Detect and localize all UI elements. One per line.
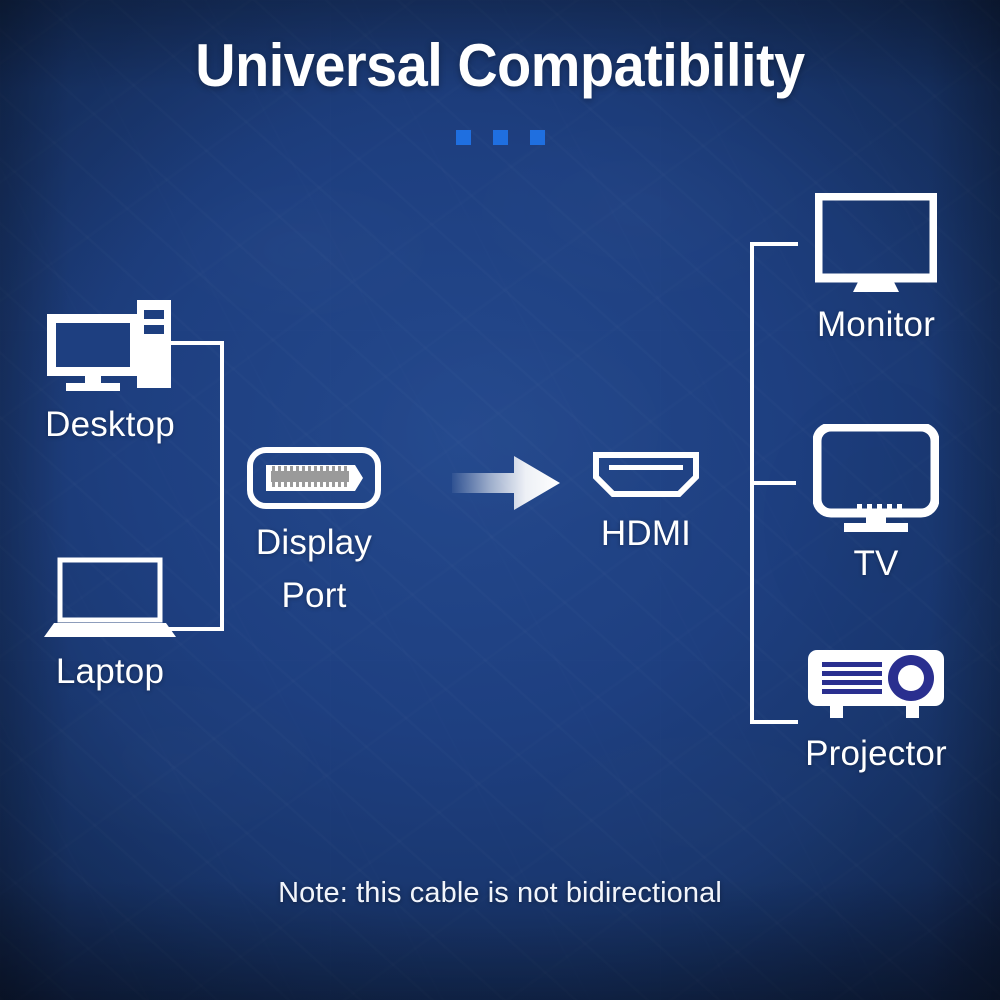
output-port-hdmi: HDMI bbox=[556, 450, 736, 553]
hdmi-connector-icon bbox=[591, 450, 701, 500]
footer-note: Note: this cable is not bidirectional bbox=[0, 877, 1000, 910]
display-label-tv: TV bbox=[776, 544, 976, 583]
projector-icon bbox=[806, 648, 946, 722]
display-label-monitor: Monitor bbox=[776, 305, 976, 344]
page-title: Universal Compatibility bbox=[35, 34, 965, 97]
displayport-connector-icon bbox=[247, 447, 381, 509]
display-item-tv: TV bbox=[776, 424, 976, 583]
input-port-displayport: Display Port bbox=[216, 447, 412, 615]
divider-dot-1 bbox=[456, 130, 471, 145]
output-port-label: HDMI bbox=[556, 514, 736, 553]
display-item-projector: Projector bbox=[776, 648, 976, 773]
input-port-label-line2: Port bbox=[216, 576, 412, 615]
display-item-monitor: Monitor bbox=[776, 193, 976, 344]
source-label-laptop: Laptop bbox=[10, 652, 210, 691]
divider-dot-2 bbox=[493, 130, 508, 145]
monitor-icon bbox=[815, 193, 937, 295]
title-divider-dots bbox=[0, 130, 1000, 145]
arrow-right-icon bbox=[452, 452, 562, 514]
input-port-label-line1: Display bbox=[216, 523, 412, 562]
tv-icon bbox=[813, 424, 939, 534]
divider-dot-3 bbox=[530, 130, 545, 145]
desktop-computer-icon bbox=[45, 296, 175, 396]
display-label-projector: Projector bbox=[776, 734, 976, 773]
infographic-canvas: Universal Compatibility Desktop Lap bbox=[0, 0, 1000, 1000]
laptop-icon bbox=[44, 556, 176, 640]
